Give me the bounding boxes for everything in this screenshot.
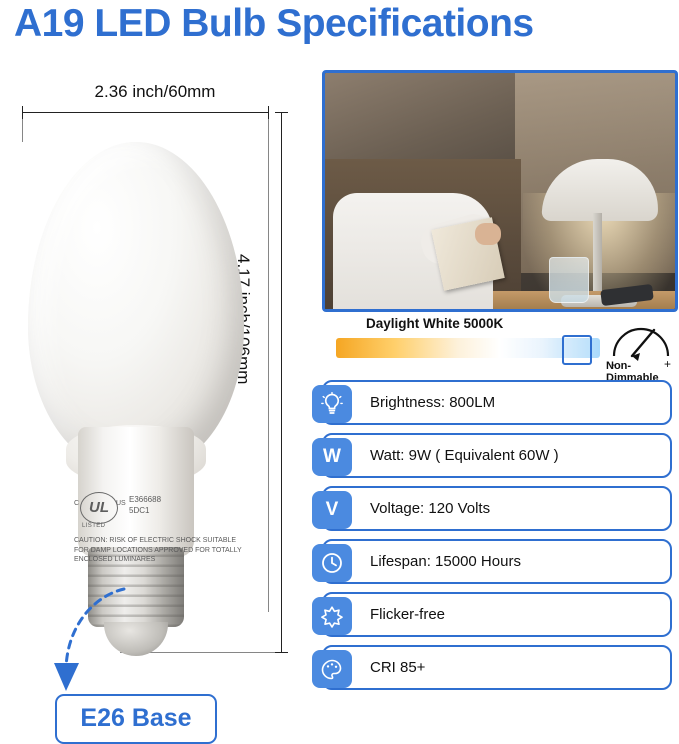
ul-mark-letters: UL bbox=[80, 492, 118, 524]
width-extension-right bbox=[268, 112, 269, 612]
specification-list: Brightness: 800LM W Watt: 9W ( Equivalen… bbox=[322, 380, 672, 690]
width-extension-left bbox=[22, 112, 23, 142]
ul-left-letter: C bbox=[74, 500, 79, 507]
color-temperature-section: Daylight White 5000K - + Non-Dimmable bbox=[322, 316, 672, 376]
bulb-glass bbox=[28, 142, 244, 472]
spec-row-lifespan: Lifespan: 15000 Hours bbox=[322, 539, 672, 584]
photo-person-hand bbox=[475, 223, 501, 245]
bulb-enumber-line1: E366688 bbox=[129, 494, 161, 505]
spec-text-lifespan: Lifespan: 15000 Hours bbox=[370, 553, 521, 570]
width-dimension-line bbox=[22, 112, 268, 113]
bulb-caution-text: CAUTION: RISK OF ELECTRIC SHOCK SUITABLE… bbox=[74, 536, 244, 565]
bulb-enumber-line2: 5DC1 bbox=[129, 505, 161, 516]
e26-base-callout: E26 Base bbox=[55, 694, 217, 744]
spec-row-watt: W Watt: 9W ( Equivalent 60W ) bbox=[322, 433, 672, 478]
spec-text-brightness: Brightness: 800LM bbox=[370, 394, 495, 411]
bulb-diagram-panel: 2.36 inch/60mm 4.17 inch/106mm UL C US L… bbox=[0, 64, 310, 693]
e26-pointer-arrow bbox=[50, 579, 140, 699]
voltage-icon-glyph: V bbox=[326, 499, 339, 521]
color-temperature-gradient-bar bbox=[336, 338, 600, 358]
color-temperature-label: Daylight White 5000K bbox=[366, 316, 503, 331]
watt-icon: W bbox=[312, 438, 352, 476]
spec-text-voltage: Voltage: 120 Volts bbox=[370, 500, 490, 517]
watt-icon-glyph: W bbox=[323, 446, 341, 468]
spec-row-voltage: V Voltage: 120 Volts bbox=[322, 486, 672, 531]
height-tick-top bbox=[275, 112, 288, 113]
width-dimension-label: 2.36 inch/60mm bbox=[40, 82, 270, 102]
lifestyle-photo bbox=[322, 70, 678, 312]
page-title: A19 LED Bulb Specifications bbox=[14, 2, 664, 54]
spec-row-cri: CRI 85+ bbox=[322, 645, 672, 690]
photo-water-glass bbox=[549, 257, 589, 303]
spec-row-flicker-free: Flicker-free bbox=[322, 592, 672, 637]
flicker-free-icon bbox=[312, 597, 352, 635]
color-temperature-marker bbox=[562, 335, 592, 365]
height-dimension-line bbox=[281, 112, 282, 652]
bulb-enumber: E366688 5DC1 bbox=[129, 494, 161, 516]
bulb-icon bbox=[312, 385, 352, 423]
ul-right-letter: US bbox=[116, 500, 126, 507]
spec-text-watt: Watt: 9W ( Equivalent 60W ) bbox=[370, 447, 559, 464]
ul-listed-text: LISTED bbox=[82, 523, 105, 529]
spec-row-brightness: Brightness: 800LM bbox=[322, 380, 672, 425]
clock-icon bbox=[312, 544, 352, 582]
cri-icon bbox=[312, 650, 352, 688]
voltage-icon: V bbox=[312, 491, 352, 529]
spec-text-flicker-free: Flicker-free bbox=[370, 606, 445, 623]
spec-text-cri: CRI 85+ bbox=[370, 659, 425, 676]
ul-certification-icon: UL C US LISTED bbox=[74, 492, 120, 534]
